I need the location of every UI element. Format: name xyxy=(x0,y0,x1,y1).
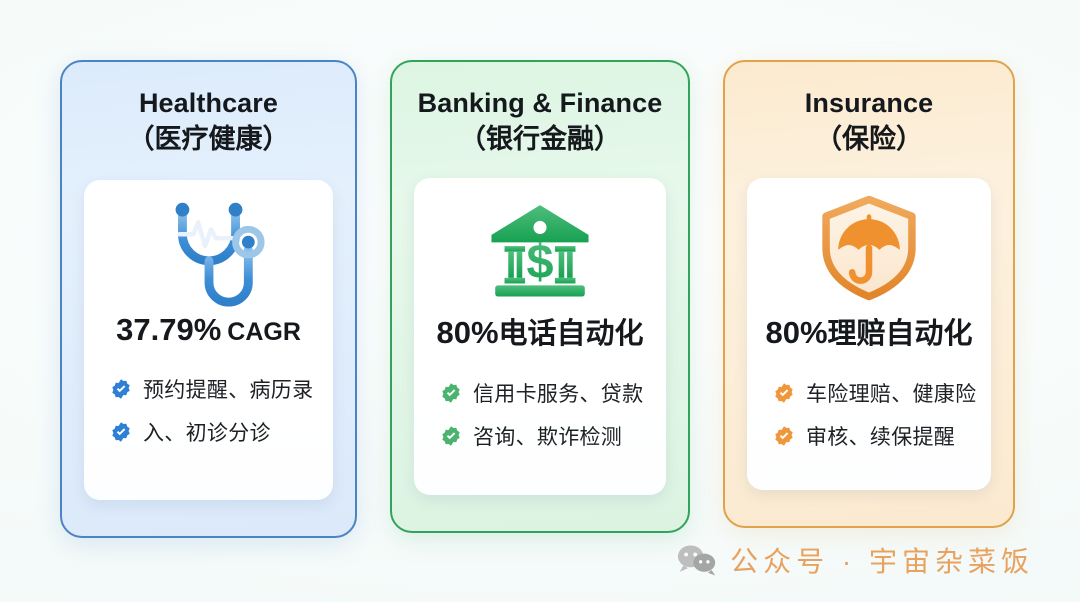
card-title-zh: （保险） xyxy=(725,124,1013,156)
stat-value: 37.79% xyxy=(116,312,221,347)
list-item: 预约提醒、病历录 xyxy=(110,374,333,404)
card-title-en: Banking & Finance xyxy=(392,88,688,120)
card-body-healthcare: 37.79%CAGR 预约提醒、病历录 入、初诊分诊 xyxy=(84,180,333,500)
card-insurance[interactable]: Insurance （保险） xyxy=(723,60,1015,528)
list-item-label: 入、初诊分诊 xyxy=(143,417,271,447)
card-header-healthcare: Healthcare （医疗健康） xyxy=(62,62,355,156)
list-item-label: 审核、续保提醒 xyxy=(806,421,955,451)
stat-banking: 80%电话自动化 xyxy=(436,310,643,352)
stethoscope-icon xyxy=(150,184,268,316)
svg-text:$: $ xyxy=(527,235,554,289)
category-card-row: Healthcare （医疗健康） xyxy=(0,0,1080,548)
watermark: 公众号 · 宇宙杂菜饭 xyxy=(677,540,1034,580)
stat-unit: 电话自动化 xyxy=(499,318,644,350)
list-item-label: 信用卡服务、贷款 xyxy=(473,378,643,408)
check-badge-icon xyxy=(773,382,795,404)
bullet-list-insurance: 车险理赔、健康险 审核、续保提醒 xyxy=(747,378,991,451)
list-item-label: 预约提醒、病历录 xyxy=(143,374,313,404)
watermark-text: 公众号 · 宇宙杂菜饭 xyxy=(730,540,1034,580)
list-item: 入、初诊分诊 xyxy=(110,417,333,447)
stat-healthcare: 37.79%CAGR xyxy=(116,312,301,348)
check-badge-icon xyxy=(773,425,795,447)
list-item: 审核、续保提醒 xyxy=(773,421,991,451)
list-item-label: 咨询、欺诈检测 xyxy=(473,421,622,451)
list-item: 车险理赔、健康险 xyxy=(773,378,991,408)
list-item-label: 车险理赔、健康险 xyxy=(806,378,976,408)
card-header-banking: Banking & Finance （银行金融） xyxy=(392,62,688,156)
list-item: 咨询、欺诈检测 xyxy=(440,421,666,451)
check-badge-icon xyxy=(110,421,132,443)
card-title-en: Healthcare xyxy=(62,88,355,120)
check-badge-icon xyxy=(440,425,462,447)
stat-unit: 理赔自动化 xyxy=(828,318,973,350)
wechat-icon xyxy=(677,544,717,576)
stat-value: 80% xyxy=(436,315,498,350)
card-title-en: Insurance xyxy=(725,88,1013,120)
card-body-banking: $ 80%电话自动化 信用卡服务、贷款 xyxy=(414,178,666,495)
bank-building-icon: $ xyxy=(484,182,596,314)
card-banking-finance[interactable]: Banking & Finance （银行金融） xyxy=(390,60,690,533)
bullet-list-healthcare: 预约提醒、病历录 入、初诊分诊 xyxy=(84,374,333,447)
stat-unit: CAGR xyxy=(227,318,301,346)
stat-insurance: 80%理赔自动化 xyxy=(765,310,972,352)
bullet-list-banking: 信用卡服务、贷款 咨询、欺诈检测 xyxy=(414,378,666,451)
card-healthcare[interactable]: Healthcare （医疗健康） xyxy=(60,60,357,538)
stat-value: 80% xyxy=(765,315,827,350)
shield-umbrella-icon xyxy=(813,182,925,314)
card-header-insurance: Insurance （保险） xyxy=(725,62,1013,156)
check-badge-icon xyxy=(440,382,462,404)
check-badge-icon xyxy=(110,378,132,400)
card-body-insurance: 80%理赔自动化 车险理赔、健康险 审核、续保提醒 xyxy=(747,178,991,490)
card-title-zh: （医疗健康） xyxy=(62,124,355,156)
list-item: 信用卡服务、贷款 xyxy=(440,378,666,408)
card-title-zh: （银行金融） xyxy=(392,124,688,156)
